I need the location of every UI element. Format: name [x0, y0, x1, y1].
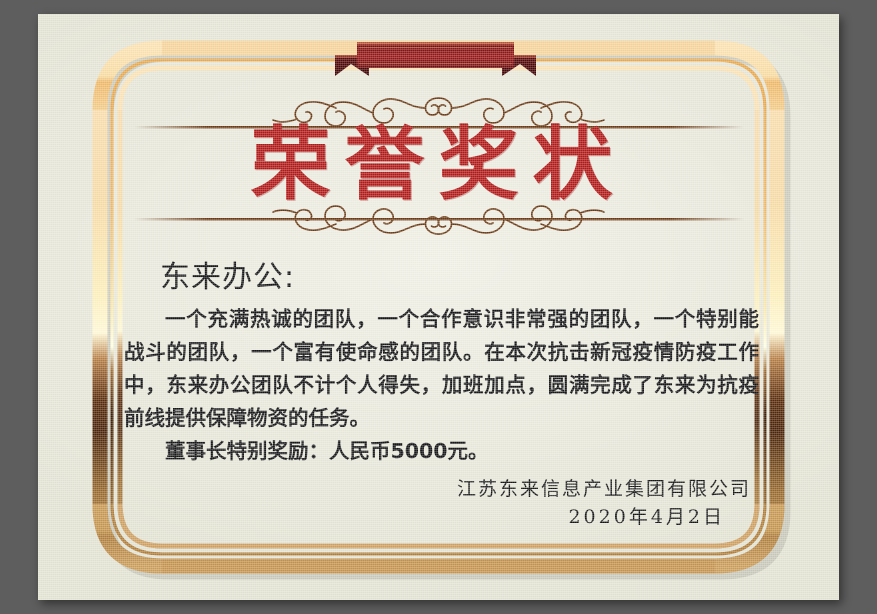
citation-body: 一个充满热诚的团队，一个合作意识非常强的团队，一个特别能战斗的团队，一个富有使命…	[124, 303, 759, 468]
recipient-salutation: 东来办公:	[160, 252, 295, 296]
signature-block: 江苏东来信息产业集团有限公司 2020年4月2日	[38, 475, 839, 531]
certificate-title: 荣誉奖状	[38, 118, 839, 210]
citation-paragraph-2: 董事长特别奖励：人民币5000元。	[124, 435, 759, 468]
certificate-paper: 荣誉奖状 东来办公: 一个充满热诚的团队，一个合作意识非常强	[38, 14, 839, 600]
scroll-flourish-bottom	[196, 204, 681, 238]
issue-date: 2020年4月2日	[38, 503, 725, 531]
issuing-organization: 江苏东来信息产业集团有限公司	[38, 475, 751, 503]
citation-paragraph-1: 一个充满热诚的团队，一个合作意识非常强的团队，一个特别能战斗的团队，一个富有使命…	[124, 303, 759, 435]
